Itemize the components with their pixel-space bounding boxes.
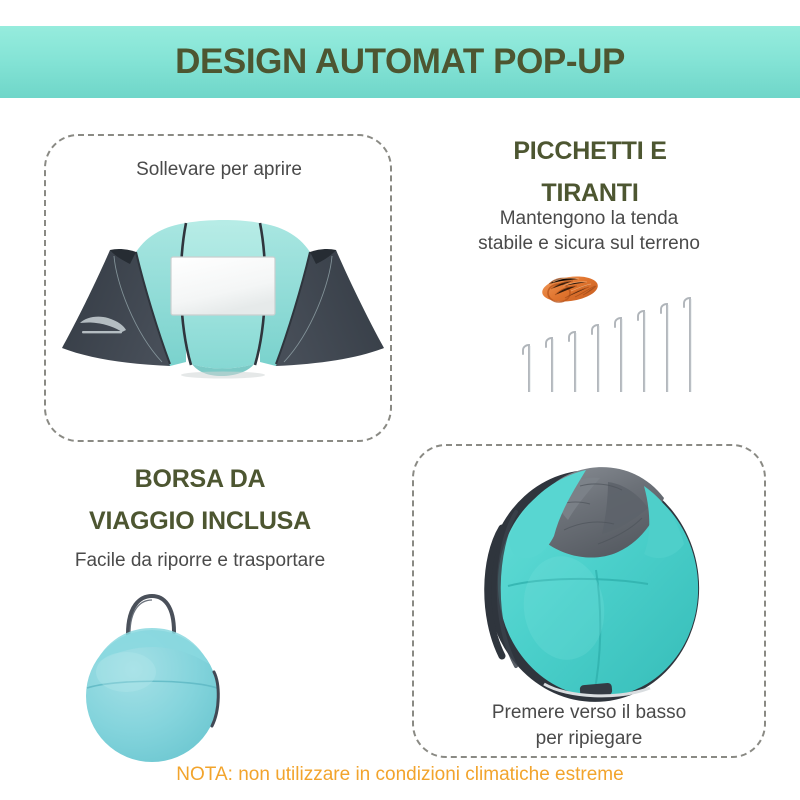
section-title-bag-line1: BORSA DA: [22, 458, 378, 500]
caption-open-tent: Sollevare per aprire: [60, 157, 378, 183]
section-subtitle-pegs: Mantengono la tenda stabile e sicura sul…: [424, 206, 754, 256]
section-title-pegs: PICCHETTI E TIRANTI: [440, 130, 740, 214]
tent-pegs-and-rope-illustration: [515, 262, 715, 392]
warning-note: NOTA: non utilizzare in condizioni clima…: [0, 764, 800, 786]
rope-coil: [541, 273, 600, 305]
pop-up-tent-open-illustration: [58, 212, 388, 402]
section-subtitle-pegs-line1: Mantengono la tenda: [424, 206, 754, 231]
tent-pegs: [523, 298, 690, 392]
round-carry-bag-illustration: [70, 590, 300, 770]
page-title: DESIGN AUTOMAT POP-UP: [175, 42, 625, 82]
header-banner: DESIGN AUTOMAT POP-UP: [0, 26, 800, 98]
section-subtitle-pegs-line2: stabile e sicura sul terreno: [424, 231, 754, 256]
caption-fold-tent: Premere verso il basso per ripiegare: [436, 700, 742, 752]
caption-fold-tent-line2: per ripiegare: [436, 726, 742, 752]
caption-fold-tent-line1: Premere verso il basso: [436, 700, 742, 726]
infographic-page: DESIGN AUTOMAT POP-UP Sollevare per apri…: [0, 0, 800, 800]
section-subtitle-bag: Facile da riporre e trasportare: [10, 548, 390, 573]
section-title-bag: BORSA DA VIAGGIO INCLUSA: [22, 458, 378, 542]
section-title-bag-line2: VIAGGIO INCLUSA: [22, 500, 378, 542]
section-title-pegs-line1: PICCHETTI E: [440, 130, 740, 172]
folded-tent-disc-illustration: [468, 458, 718, 704]
